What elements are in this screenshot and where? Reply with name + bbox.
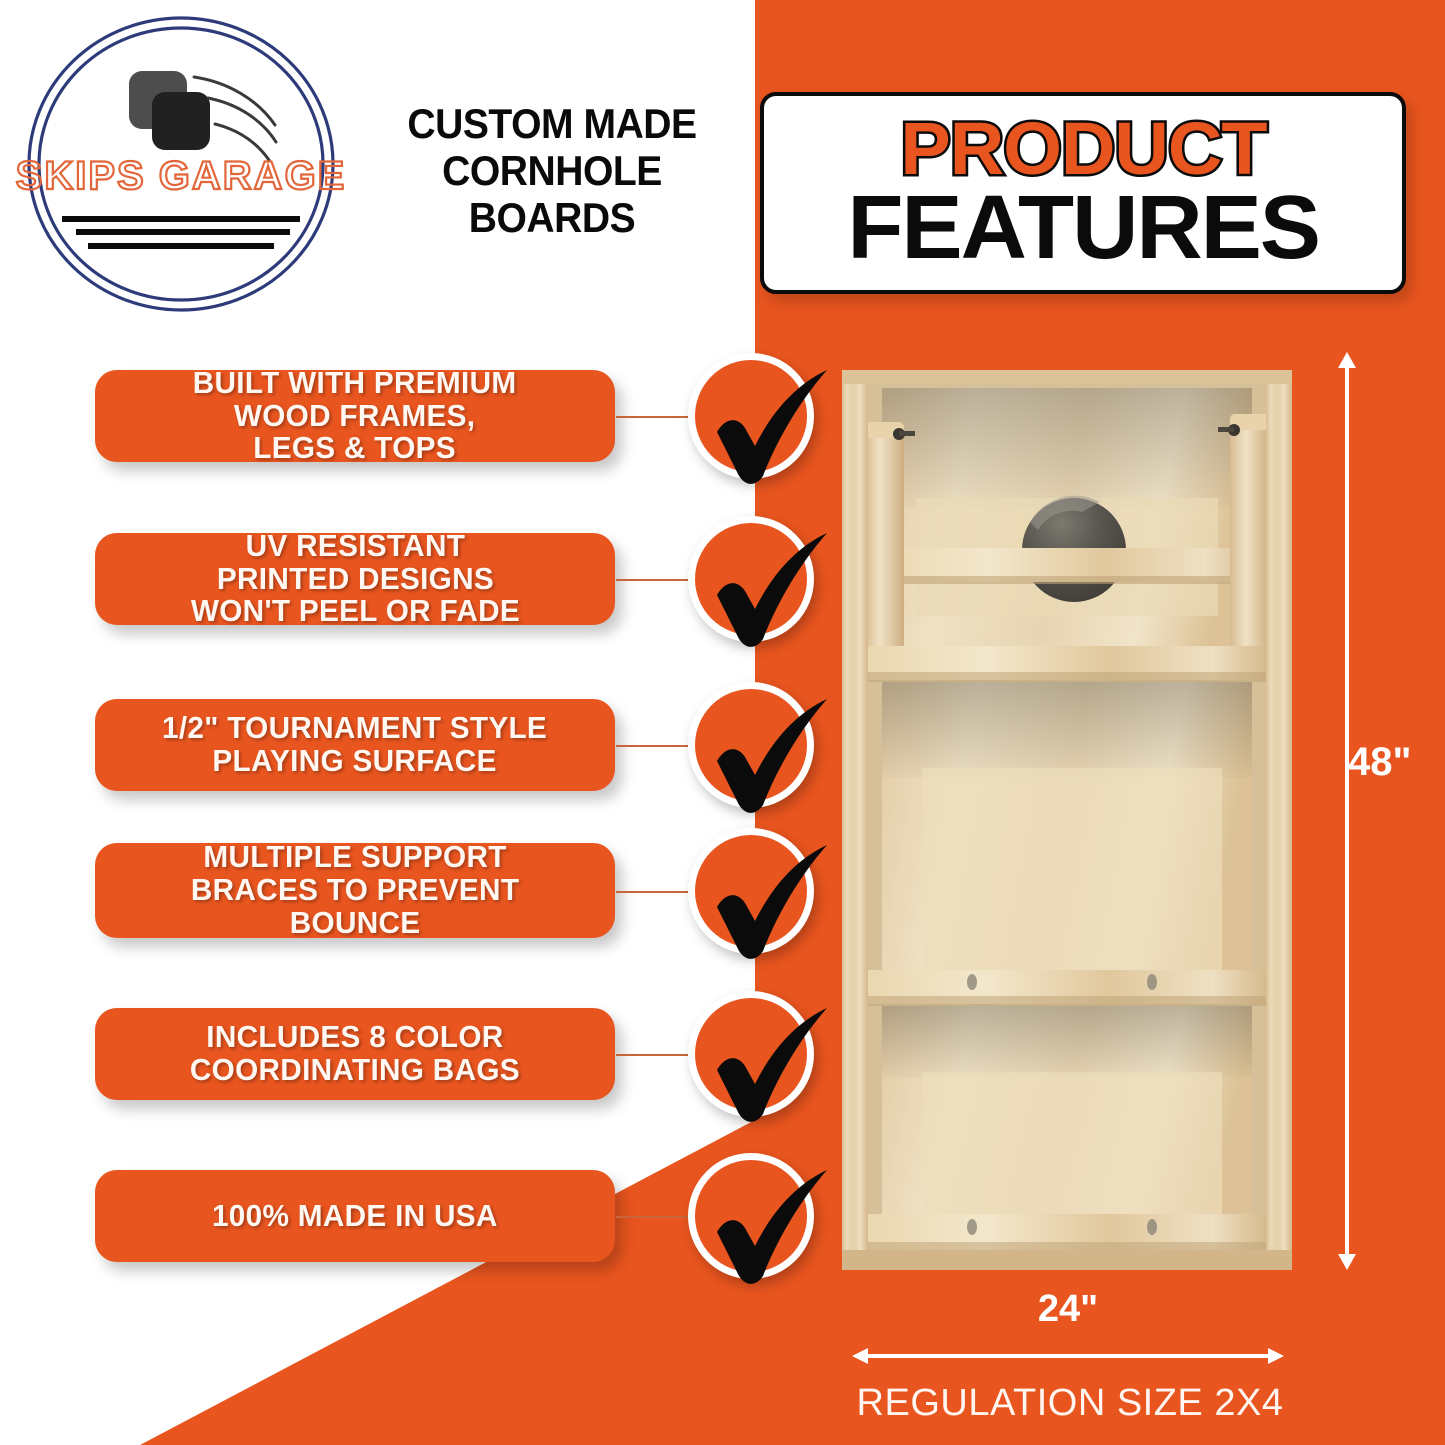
feature-pill-uv-resistant: UV RESISTANT PRINTED DESIGNS WON'T PEEL … (95, 533, 615, 625)
feature-line: 100% MADE IN USA (212, 1198, 498, 1233)
feature-line: BRACES TO PREVENT (191, 872, 519, 907)
cornhole-bags-icon (129, 71, 210, 150)
badge-bottom-word: FEATURES (847, 186, 1319, 272)
check-mark-icon (688, 516, 814, 642)
feature-line: WOOD FRAMES, (234, 398, 476, 433)
product-features-badge: PRODUCT FEATURES (760, 92, 1406, 294)
feature-line: UV RESISTANT (245, 528, 465, 563)
dimension-arrow-horizontal (852, 1345, 1284, 1367)
infographic-canvas: SKIPS GARAGE CUSTOM MADE CORNHOLE BOARDS… (0, 0, 1445, 1445)
check-mark-icon (688, 1153, 814, 1279)
feature-pill-support-braces: MULTIPLE SUPPORT BRACES TO PREVENT BOUNC… (95, 843, 615, 938)
feature-line: PRINTED DESIGNS (216, 561, 493, 596)
check-mark-icon (688, 682, 814, 808)
feature-row-included-bags: INCLUDES 8 COLOR COORDINATING BAGS (0, 1003, 830, 1133)
feature-pill-premium-wood: BUILT WITH PREMIUM WOOD FRAMES, LEGS & T… (95, 370, 615, 462)
feature-row-uv-resistant: UV RESISTANT PRINTED DESIGNS WON'T PEEL … (0, 528, 830, 658)
feature-row-playing-surface: 1/2" TOURNAMENT STYLE PLAYING SURFACE (0, 694, 830, 824)
badge-top-word: PRODUCT (900, 114, 1266, 184)
feature-line: PLAYING SURFACE (213, 743, 497, 778)
feature-line: WON'T PEEL OR FADE (190, 593, 519, 628)
regulation-size-label: REGULATION SIZE 2X4 (790, 1382, 1350, 1425)
feature-row-support-braces: MULTIPLE SUPPORT BRACES TO PREVENT BOUNC… (0, 838, 830, 968)
skips-garage-logo: SKIPS GARAGE (12, 14, 350, 314)
feature-line: BUILT WITH PREMIUM (193, 365, 517, 400)
dimension-arrow-vertical (1334, 352, 1360, 1270)
logo-wordmark: SKIPS GARAGE (12, 154, 350, 199)
feature-pill-made-in-usa: 100% MADE IN USA (95, 1170, 615, 1262)
feature-line: 1/2" TOURNAMENT STYLE (162, 710, 547, 745)
feature-row-made-in-usa: 100% MADE IN USA (0, 1165, 830, 1295)
headline-line-1: CUSTOM MADE (366, 100, 738, 147)
check-mark-icon (688, 828, 814, 954)
feature-line: MULTIPLE SUPPORT (203, 839, 506, 874)
check-mark-icon (688, 991, 814, 1117)
page-title: CUSTOM MADE CORNHOLE BOARDS (366, 100, 738, 241)
feature-pill-included-bags: INCLUDES 8 COLOR COORDINATING BAGS (95, 1008, 615, 1100)
feature-line: COORDINATING BAGS (190, 1052, 520, 1087)
three-lines-icon (62, 219, 300, 246)
headline-line-3: BOARDS (366, 194, 738, 241)
dimension-label-width: 24" (852, 1288, 1284, 1331)
feature-line: INCLUDES 8 COLOR (206, 1019, 503, 1054)
feature-line: LEGS & TOPS (254, 430, 457, 465)
feature-line: BOUNCE (290, 905, 421, 940)
check-mark-icon (688, 353, 814, 479)
headline-line-2: CORNHOLE (366, 147, 738, 194)
feature-pill-playing-surface: 1/2" TOURNAMENT STYLE PLAYING SURFACE (95, 699, 615, 791)
feature-row-premium-wood: BUILT WITH PREMIUM WOOD FRAMES, LEGS & T… (0, 365, 830, 495)
product-photo-cornhole-board (842, 370, 1292, 1270)
dimension-label-height: 48" (1348, 740, 1411, 785)
